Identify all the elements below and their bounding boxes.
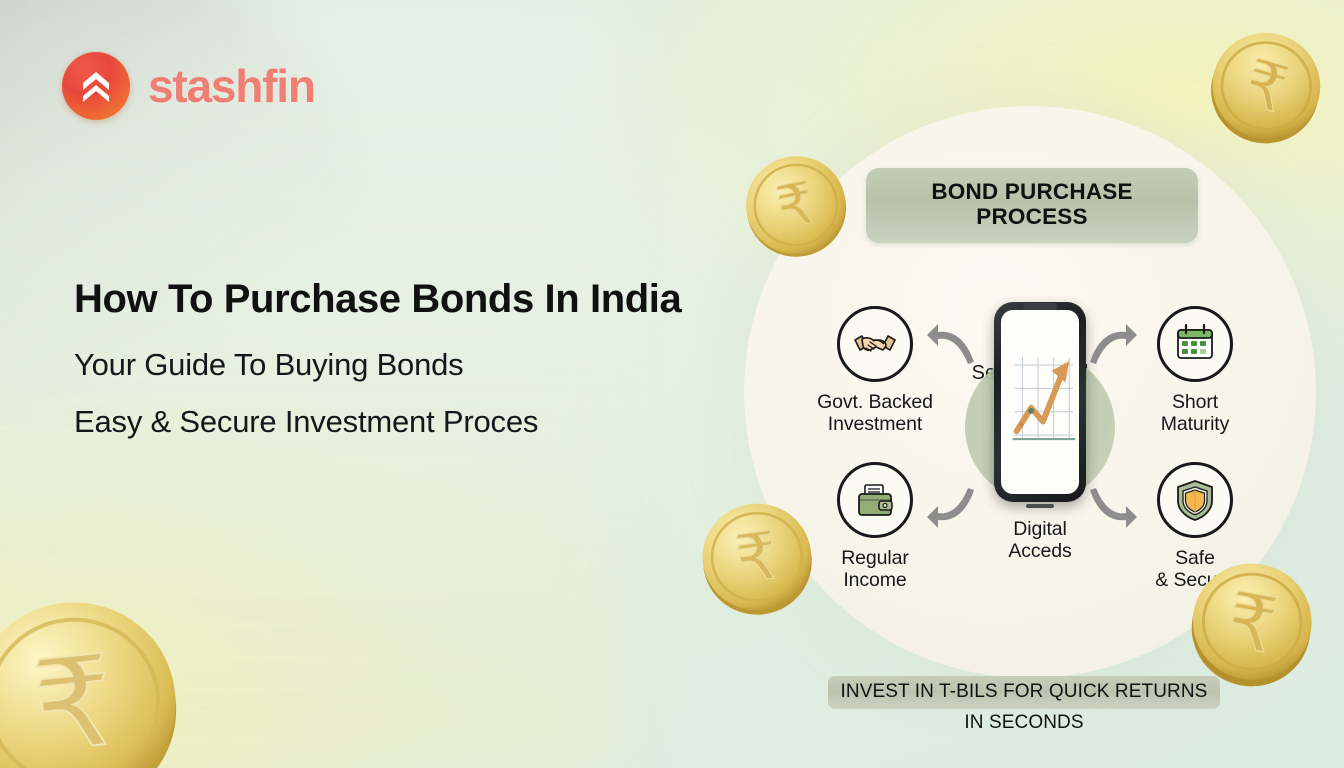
smartphone-growth-chart-icon: [994, 302, 1086, 502]
handshake-icon: [837, 306, 913, 382]
infographic-title-badge: BOND PURCHASE PROCESS: [866, 168, 1198, 243]
label-line-1: Short: [1172, 391, 1218, 413]
calendar-icon: [1157, 306, 1233, 382]
feature-node-regular-income[interactable]: Regular Income: [800, 462, 950, 591]
svg-text:₹: ₹: [27, 630, 121, 768]
label-line-2: Investment: [828, 413, 922, 435]
brand-logo[interactable]: stashfin: [62, 52, 315, 120]
hero-copy: How To Purchase Bonds In India Your Guid…: [74, 278, 834, 437]
marketing-banner: stashfin How To Purchase Bonds In India …: [0, 0, 1344, 768]
rupee-coin-icon: ₹: [1175, 546, 1328, 701]
subtitle-two: Easy & Secure Investment Proces: [74, 406, 834, 437]
cta-line-2: IN SECONDS: [828, 712, 1220, 734]
feature-node-label: Govt. Backed Investment: [800, 391, 950, 435]
cta-line-1: INVEST IN T-BILS FOR QUICK RETURNS: [838, 681, 1210, 703]
page-title: How To Purchase Bonds In India: [74, 278, 834, 321]
feature-node-short-maturity[interactable]: Short Maturity: [1120, 306, 1270, 435]
rupee-coin-icon: ₹: [0, 585, 193, 768]
rupee-coin-icon: ₹: [732, 142, 860, 270]
feature-node-label: Regular Income: [800, 547, 950, 591]
stashfin-chevron-logo-icon: [62, 52, 130, 120]
feature-node-label: Short Maturity: [1120, 391, 1270, 435]
label-line-2: Acceds: [1008, 540, 1071, 562]
label-line-2: Income: [843, 569, 906, 591]
label-line-1: Govt. Backed: [817, 391, 933, 413]
label-line-2: Maturity: [1161, 413, 1230, 435]
label-line-1: Digital: [1013, 518, 1067, 540]
phone-notch: [1023, 303, 1057, 310]
infographic-title: BOND PURCHASE PROCESS: [874, 179, 1190, 230]
subtitle-one: Your Guide To Buying Bonds: [74, 349, 834, 380]
wallet-icon: [837, 462, 913, 538]
phone-home-indicator: [1026, 504, 1054, 508]
brand-wordmark: stashfin: [148, 59, 315, 113]
center-bottom-label-text: Digital Acceds: [960, 518, 1120, 562]
center-bottom-label: Digital Acceds: [960, 518, 1120, 562]
label-line-1: Regular: [841, 547, 909, 569]
feature-node-govt-backed[interactable]: Govt. Backed Investment: [800, 306, 950, 435]
phone-screen: [1001, 310, 1079, 494]
cta-badge: INVEST IN T-BILS FOR QUICK RETURNS: [828, 676, 1220, 709]
shield-icon: [1157, 462, 1233, 538]
rupee-coin-icon: ₹: [690, 490, 824, 625]
